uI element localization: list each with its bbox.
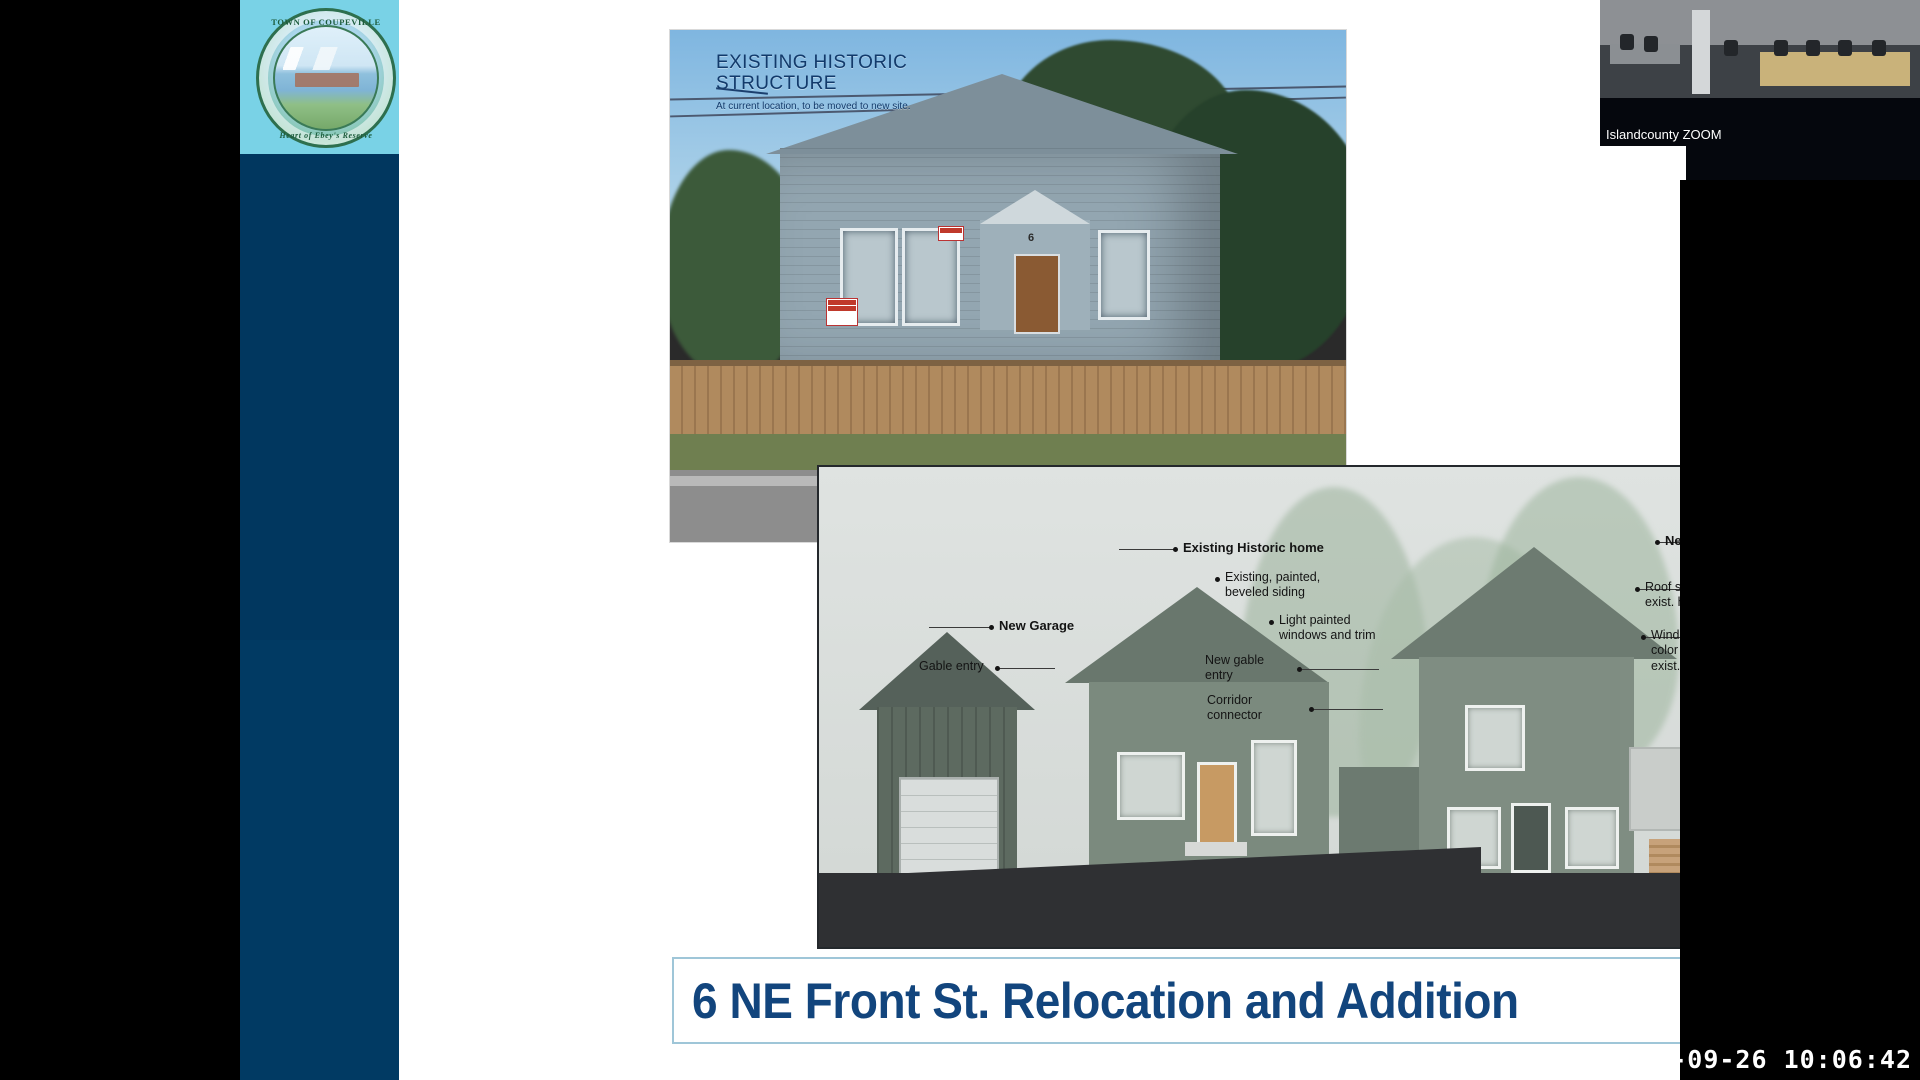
timestamp-overlay: 2024-09-26 10:06:42 — [1607, 1045, 1912, 1074]
rendering-new-addition — [1419, 657, 1634, 877]
seal-bottom-text: Heart of Ebey's Reserve — [256, 131, 396, 140]
participant-video[interactable] — [1600, 0, 1920, 98]
annotation-new-gable-entry: New gable entry — [1205, 653, 1264, 684]
seal-top-text: TOWN OF COUPEVILLE — [256, 17, 396, 27]
annotation-gable-entry: Gable entry — [919, 659, 984, 674]
house-number: 6 — [1028, 232, 1034, 244]
town-seal-icon: TOWN OF COUPEVILLE Heart of Ebey's Reser… — [256, 8, 396, 148]
annotation-windows-trim-color: Windows and trim color to match exist. h… — [1651, 628, 1680, 674]
photo-heading-line1: EXISTING HISTORIC — [716, 52, 911, 73]
architectural-rendering: Retain exist. trees New Addition Roof sl… — [817, 465, 1680, 949]
photo-sign-lower — [826, 298, 858, 326]
photo-sign-upper — [938, 226, 964, 241]
screen: TOWN OF COUPEVILLE Heart of Ebey's Reser… — [0, 0, 1920, 1080]
page-title: 6 NE Front St. Relocation and Addition — [692, 972, 1519, 1030]
slide-side-band-lower — [240, 640, 399, 1080]
annotation-roof-slope: Roof slope to match exist. historic home — [1645, 580, 1680, 611]
annotation-light-painted: Light painted windows and trim — [1279, 613, 1376, 644]
panel-placeholder — [1600, 146, 1686, 180]
shared-slide: TOWN OF COUPEVILLE Heart of Ebey's Reser… — [240, 0, 1680, 1080]
annotation-beveled-siding: Existing, painted, beveled siding — [1225, 570, 1320, 601]
participant-name-label: Islandcounty ZOOM — [1600, 125, 1728, 144]
slide-title-banner: 6 NE Front St. Relocation and Addition — [672, 957, 1680, 1044]
photo-caption: At current location, to be moved to new … — [716, 101, 911, 112]
slide-logo-band: TOWN OF COUPEVILLE Heart of Ebey's Reser… — [240, 0, 399, 154]
photo-caption-block: EXISTING HISTORIC STRUCTURE At current l… — [716, 52, 911, 112]
annotation-new-garage: New Garage — [999, 618, 1074, 634]
annotation-new-addition: New Addition — [1665, 533, 1680, 549]
photo-house: 6 — [780, 148, 1220, 378]
annotation-existing-home: Existing Historic home — [1183, 540, 1324, 556]
annotation-corridor-connector: Corridor connector — [1207, 693, 1262, 724]
zoom-participant-panel[interactable]: Islandcounty ZOOM — [1600, 0, 1920, 180]
